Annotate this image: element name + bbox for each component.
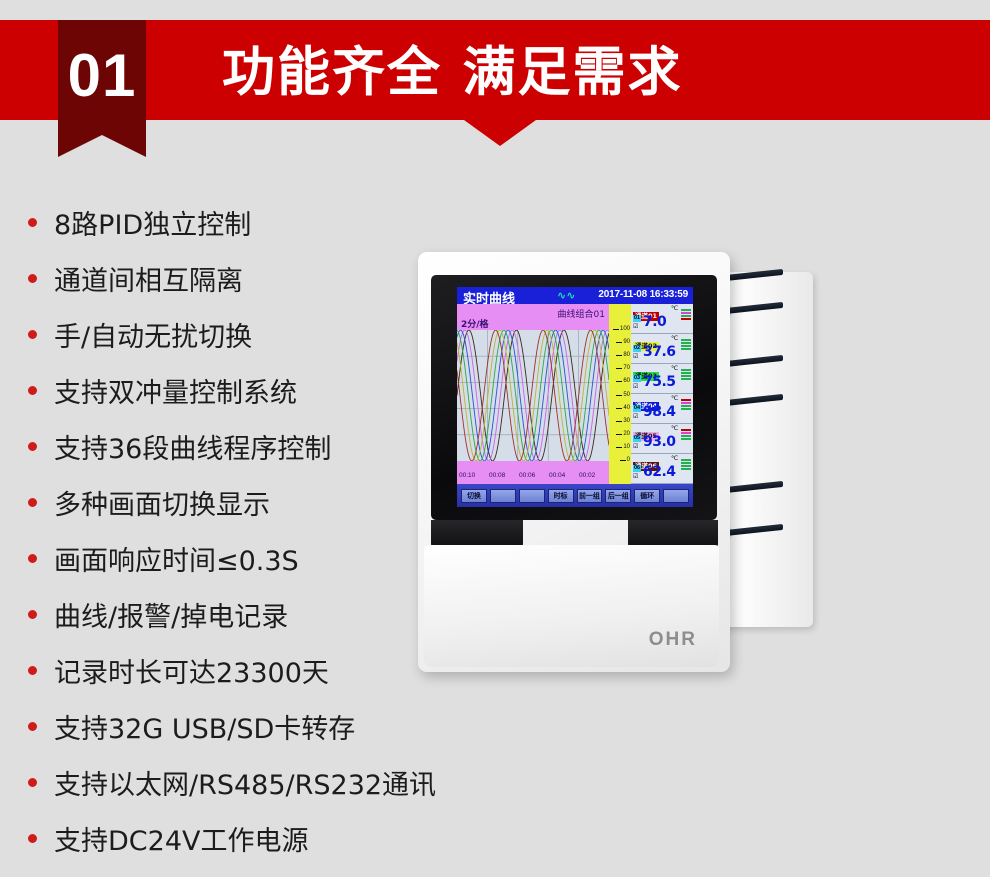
list-item-label: 支持DC24V工作电源: [54, 819, 308, 858]
channel-index: 03: [633, 375, 641, 382]
channel-value: 7.0: [643, 314, 666, 330]
terminal-slot: [725, 355, 783, 367]
ribbon-tail: [58, 135, 146, 157]
channel-bar-segment: [681, 462, 691, 464]
channel-checkbox[interactable]: ☑: [633, 324, 638, 331]
channel-checkbox[interactable]: ☑: [633, 384, 638, 391]
channel-row[interactable]: 通道03℃03☑75.5: [631, 364, 693, 394]
channel-unit: ℃: [671, 454, 678, 462]
channel-row[interactable]: 通道02℃02☑37.6: [631, 334, 693, 364]
list-item: 支持双冲量控制系统: [28, 362, 448, 418]
channel-unit: ℃: [671, 394, 678, 402]
channel-value: 93.0: [643, 434, 676, 450]
softkey-blank-2[interactable]: [519, 489, 545, 503]
terminal-slot: [725, 269, 783, 281]
list-item-label: 支持双冲量控制系统: [54, 371, 297, 410]
channel-index: 04: [633, 405, 641, 412]
terminal-slot: [725, 394, 783, 406]
list-item-label: 8路PID独立控制: [54, 203, 251, 242]
channel-bar-segment: [681, 348, 691, 350]
channel-unit: ℃: [671, 304, 678, 312]
softkey-循环[interactable]: 循环: [634, 489, 660, 503]
y-tick-label: 20: [623, 431, 630, 437]
channel-bar-segment: [681, 399, 691, 401]
channel-bargraph: [681, 339, 691, 350]
channel-bar-segment: [681, 378, 691, 380]
x-tick-label: 00:04: [549, 472, 565, 479]
channel-checkbox[interactable]: ☑: [633, 354, 638, 361]
bullet-dot-icon: [28, 722, 37, 731]
channel-index: 02: [633, 345, 641, 352]
y-tick-label: 70: [623, 365, 630, 371]
chart-plot-area: [457, 330, 609, 461]
x-tick-label: 00:02: [579, 472, 595, 479]
housing-foot-left: [431, 520, 523, 548]
channel-panel: 通道01℃01☑7.0通道02℃02☑37.6通道03℃03☑75.5通道04℃…: [631, 304, 693, 484]
channel-bar-segment: [681, 375, 691, 377]
section-number: 01: [58, 20, 146, 130]
y-tick-label: 80: [623, 352, 630, 358]
channel-bar-segment: [681, 369, 691, 371]
y-tick-label: 50: [623, 392, 630, 398]
channel-index: 06: [633, 465, 641, 472]
list-item: 多种画面切换显示: [28, 474, 448, 530]
y-tick-label: 90: [623, 339, 630, 345]
channel-checkbox[interactable]: ☑: [633, 474, 638, 481]
terminal-slot: [725, 481, 783, 493]
chart-x-axis: 00:1000:0800:0600:0400:02: [457, 464, 609, 482]
list-item: 支持DC24V工作电源: [28, 810, 448, 866]
chart-y-axis: 0102030405060708090100: [609, 304, 631, 484]
channel-bar-segment: [681, 429, 691, 431]
channel-row[interactable]: 通道01℃01☑7.0: [631, 304, 693, 334]
channel-row[interactable]: 通道04℃04☑98.4: [631, 394, 693, 424]
bullet-dot-icon: [28, 442, 37, 451]
lcd-top-bar: 实时曲线 ∿∿ 2017-11-08 16:33:59: [457, 287, 693, 304]
list-item: 画面响应时间≤0.3S: [28, 530, 448, 586]
bullet-dot-icon: [28, 498, 37, 507]
channel-value: 75.5: [643, 374, 676, 390]
list-item-label: 支持36段曲线程序控制: [54, 427, 331, 466]
page-root: 01 功能齐全 满足需求 8路PID独立控制 通道间相互隔离 手/自动无扰切换 …: [0, 0, 990, 877]
channel-value: 98.4: [643, 404, 676, 420]
channel-bar-segment: [681, 459, 691, 461]
channel-bar-segment: [681, 342, 691, 344]
softkey-后一组[interactable]: 后一组: [605, 489, 631, 503]
list-item: 手/自动无扰切换: [28, 306, 448, 362]
channel-bargraph: [681, 459, 691, 470]
y-tick-label: 60: [623, 378, 630, 384]
curve-group-label: 曲线组合01: [558, 307, 605, 320]
list-item-label: 手/自动无扰切换: [54, 315, 252, 354]
x-tick-label: 00:08: [489, 472, 505, 479]
chart-curves: [457, 330, 609, 461]
waveform-icon: ∿∿: [557, 289, 575, 302]
softkey-前一组[interactable]: 前一组: [577, 489, 603, 503]
list-item: 记录时长可达23300天: [28, 642, 448, 698]
channel-bar-segment: [681, 402, 691, 404]
datetime-display: 2017-11-08 16:33:59: [598, 289, 688, 300]
screen-housing: 实时曲线 ∿∿ 2017-11-08 16:33:59 曲线组合01 2分/格: [431, 275, 717, 520]
channel-bar-segment: [681, 309, 691, 311]
housing-foot-right: [628, 520, 718, 548]
channel-row[interactable]: 通道06℃06☑62.4: [631, 454, 693, 484]
list-item-label: 曲线/报警/掉电记录: [54, 595, 288, 634]
lcd-body: 曲线组合01 2分/格 00:1000:0800:0600:0400:02 01…: [457, 304, 693, 484]
list-item-label: 画面响应时间≤0.3S: [54, 539, 299, 578]
channel-checkbox[interactable]: ☑: [633, 414, 638, 421]
page-title: 功能齐全 满足需求: [222, 30, 682, 106]
channel-index: 01: [633, 315, 641, 322]
channel-checkbox[interactable]: ☑: [633, 444, 638, 451]
list-item-label: 支持32G USB/SD卡转存: [54, 707, 355, 746]
list-item: 支持36段曲线程序控制: [28, 418, 448, 474]
list-item: 曲线/报警/掉电记录: [28, 586, 448, 642]
list-item: 支持以太网/RS485/RS232通讯: [28, 754, 448, 810]
bullet-dot-icon: [28, 554, 37, 563]
softkey-blank-7[interactable]: [663, 489, 689, 503]
list-item-label: 多种画面切换显示: [54, 483, 270, 522]
list-item-label: 记录时长可达23300天: [54, 651, 329, 690]
paperless-recorder-device: 实时曲线 ∿∿ 2017-11-08 16:33:59 曲线组合01 2分/格: [418, 252, 918, 682]
channel-bargraph: [681, 399, 691, 410]
softkey-切换[interactable]: 切换: [461, 489, 487, 503]
channel-bar-segment: [681, 405, 691, 407]
channel-bar-segment: [681, 435, 691, 437]
channel-row[interactable]: 通道05℃05☑93.0: [631, 424, 693, 454]
channel-bar-segment: [681, 318, 691, 320]
channel-value: 37.6: [643, 344, 676, 360]
channel-bar-segment: [681, 468, 691, 470]
channel-bargraph: [681, 369, 691, 380]
channel-unit: ℃: [671, 364, 678, 372]
trend-chart[interactable]: 曲线组合01 2分/格 00:1000:0800:0600:0400:02: [457, 304, 609, 484]
bullet-dot-icon: [28, 610, 37, 619]
bullet-dot-icon: [28, 834, 37, 843]
channel-bargraph: [681, 309, 691, 320]
channel-bar-segment: [681, 465, 691, 467]
list-item-label: 支持以太网/RS485/RS232通讯: [54, 763, 436, 802]
channel-bar-segment: [681, 345, 691, 347]
bullet-dot-icon: [28, 274, 37, 283]
y-tick-label: 0: [627, 457, 630, 463]
brand-logo: OHR: [649, 629, 697, 651]
bullet-dot-icon: [28, 330, 37, 339]
list-item: 支持32G USB/SD卡转存: [28, 698, 448, 754]
y-tick-label: 100: [620, 326, 630, 332]
y-tick-label: 40: [623, 405, 630, 411]
channel-unit: ℃: [671, 334, 678, 342]
bullet-dot-icon: [28, 778, 37, 787]
channel-bargraph: [681, 429, 691, 440]
channel-bar-segment: [681, 372, 691, 374]
channel-unit: ℃: [671, 424, 678, 432]
channel-bar-segment: [681, 339, 691, 341]
list-item: 通道间相互隔离: [28, 250, 448, 306]
channel-index: 05: [633, 435, 641, 442]
bullet-dot-icon: [28, 386, 37, 395]
lcd-screen[interactable]: 实时曲线 ∿∿ 2017-11-08 16:33:59 曲线组合01 2分/格: [457, 287, 693, 507]
time-scale-label: 2分/格: [461, 317, 489, 330]
list-item-label: 通道间相互隔离: [54, 259, 243, 298]
x-tick-label: 00:10: [459, 472, 475, 479]
channel-bar-segment: [681, 432, 691, 434]
channel-bar-segment: [681, 408, 691, 410]
terminal-slot: [725, 524, 783, 536]
channel-bar-segment: [681, 315, 691, 317]
channel-value: 62.4: [643, 464, 676, 480]
bullet-dot-icon: [28, 666, 37, 675]
channel-bar-segment: [681, 312, 691, 314]
banner-notch-triangle: [464, 120, 536, 146]
terminal-slot: [725, 302, 783, 314]
y-tick-label: 10: [623, 444, 630, 450]
y-tick-label: 30: [623, 418, 630, 424]
softkey-时标[interactable]: 时标: [548, 489, 574, 503]
x-tick-label: 00:06: [519, 472, 535, 479]
lcd-button-bar: 切换时标前一组后一组循环: [457, 484, 693, 507]
list-item: 8路PID独立控制: [28, 194, 448, 250]
channel-bar-segment: [681, 438, 691, 440]
device-front-bezel: 实时曲线 ∿∿ 2017-11-08 16:33:59 曲线组合01 2分/格: [418, 252, 730, 672]
softkey-blank-1[interactable]: [490, 489, 516, 503]
device-lower-panel: OHR: [424, 545, 719, 667]
bullet-dot-icon: [28, 218, 37, 227]
feature-list: 8路PID独立控制 通道间相互隔离 手/自动无扰切换 支持双冲量控制系统 支持3…: [28, 194, 448, 866]
